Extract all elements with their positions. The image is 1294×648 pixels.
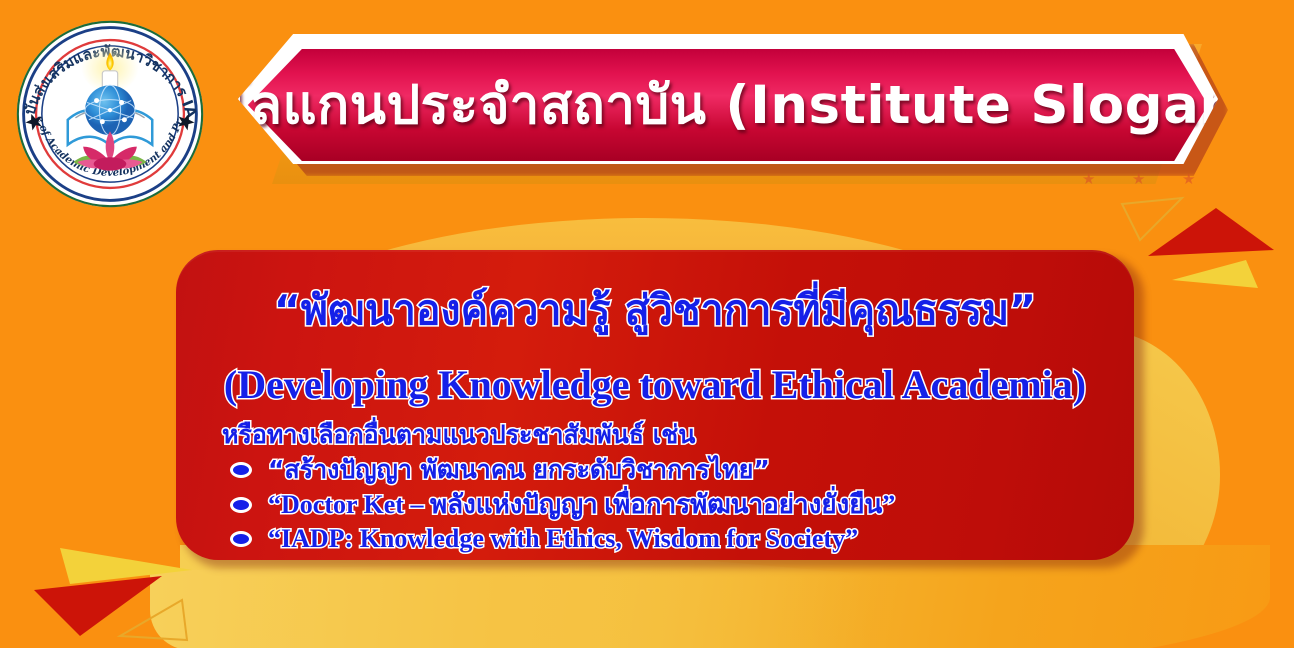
bullet-icon xyxy=(230,497,252,513)
alternative-slogan: “สร้างปัญญา พัฒนาคน ยกระดับวิชาการไทย” xyxy=(268,456,770,485)
content-panel: “พัฒนาองค์ความรู้ สู่วิชาการที่มีคุณธรรม… xyxy=(176,250,1134,560)
alternatives-intro: หรือทางเลือกอื่นตามแนวประชาสัมพันธ์ เช่น xyxy=(204,421,1106,450)
list-item: “สร้างปัญญา พัฒนาคน ยกระดับวิชาการไทย” xyxy=(230,456,1106,485)
triangle-red-left xyxy=(34,576,162,636)
star-icon: ★ xyxy=(1132,172,1145,187)
slogan-english: (Developing Knowledge toward Ethical Aca… xyxy=(204,363,1106,407)
triangle-yellow-right xyxy=(1172,260,1258,288)
triangle-outline-right xyxy=(1122,198,1182,240)
bullet-icon xyxy=(230,531,252,547)
star-icon: ★ xyxy=(1082,172,1095,187)
triangle-red-right xyxy=(1148,208,1274,256)
list-item: “IADP: Knowledge with Ethics, Wisdom for… xyxy=(230,524,1106,554)
slide-canvas: สถาบันส่งเสริมและพัฒนาวิชาการ IADP Insti… xyxy=(0,0,1294,648)
header-banner: สโลแกนประจำสถาบัน (Institute Slogan) ★ ★… xyxy=(232,28,1238,188)
triangle-outline-left xyxy=(120,600,187,640)
page-title: สโลแกนประจำสถาบัน (Institute Slogan) xyxy=(232,34,1218,176)
banner-white-border: สโลแกนประจำสถาบัน (Institute Slogan) xyxy=(232,34,1218,164)
alternatives-list: “สร้างปัญญา พัฒนาคน ยกระดับวิชาการไทย” “… xyxy=(204,456,1106,555)
alternative-slogan: “Doctor Ket – พลังแห่งปัญญา เพื่อการพัฒน… xyxy=(268,490,895,520)
triangle-yellow-left xyxy=(60,548,192,584)
star-icon: ★ xyxy=(1182,172,1195,187)
iadp-logo: สถาบันส่งเสริมและพัฒนาวิชาการ IADP Insti… xyxy=(14,18,206,210)
slogan-thai: “พัฒนาองค์ความรู้ สู่วิชาการที่มีคุณธรรม… xyxy=(204,288,1106,333)
list-item: “Doctor Ket – พลังแห่งปัญญา เพื่อการพัฒน… xyxy=(230,490,1106,520)
bullet-icon xyxy=(230,462,252,478)
alternative-slogan: “IADP: Knowledge with Ethics, Wisdom for… xyxy=(268,524,858,554)
